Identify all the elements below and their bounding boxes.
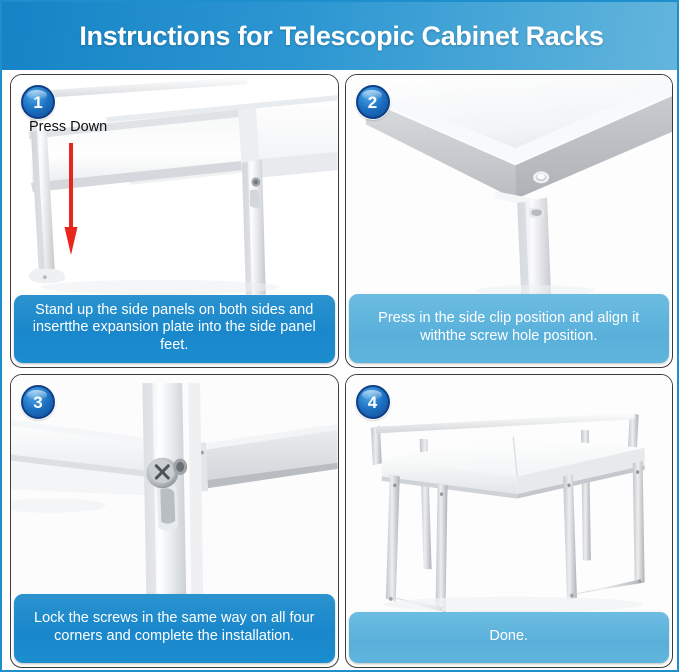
step-panel-2: 2 Press in the side clip position and al…: [345, 74, 674, 368]
step-photo-3: 3: [11, 375, 338, 594]
step-badge-2: 2: [356, 85, 390, 119]
step-badge-3: 3: [21, 385, 55, 419]
step-caption-1: Stand up the side panels on both sides a…: [14, 295, 335, 363]
step-panel-1: 1 Press Down Stand up the side panels on…: [10, 74, 339, 368]
step-badge-4: 4: [356, 385, 390, 419]
press-down-label: Press Down: [29, 119, 107, 135]
rack-side-panel-illustration: [11, 75, 338, 295]
step-photo-4: 4: [346, 375, 673, 612]
step-caption-4: Done.: [349, 612, 670, 663]
steps-grid: 1 Press Down Stand up the side panels on…: [10, 74, 673, 668]
shelf-corner-screw-hole-illustration: [346, 75, 673, 294]
assembled-rack-illustration: [346, 375, 673, 612]
step-caption-2: Press in the side clip position and alig…: [349, 294, 670, 363]
step-panel-3: 3 Lock the screws in the same way on all…: [10, 374, 339, 668]
screw-lock-closeup-illustration: [11, 375, 338, 594]
step-photo-2: 2: [346, 75, 673, 294]
page-title: Instructions for Telescopic Cabinet Rack…: [79, 21, 603, 52]
step-caption-3: Lock the screws in the same way on all f…: [14, 594, 335, 663]
header-banner: Instructions for Telescopic Cabinet Rack…: [2, 2, 679, 70]
step-badge-1: 1: [21, 85, 55, 119]
down-arrow-icon: [64, 143, 78, 255]
instruction-infographic: Instructions for Telescopic Cabinet Rack…: [0, 0, 679, 672]
step-panel-4: 4 Done.: [345, 374, 674, 668]
step-photo-1: 1 Press Down: [11, 75, 338, 295]
